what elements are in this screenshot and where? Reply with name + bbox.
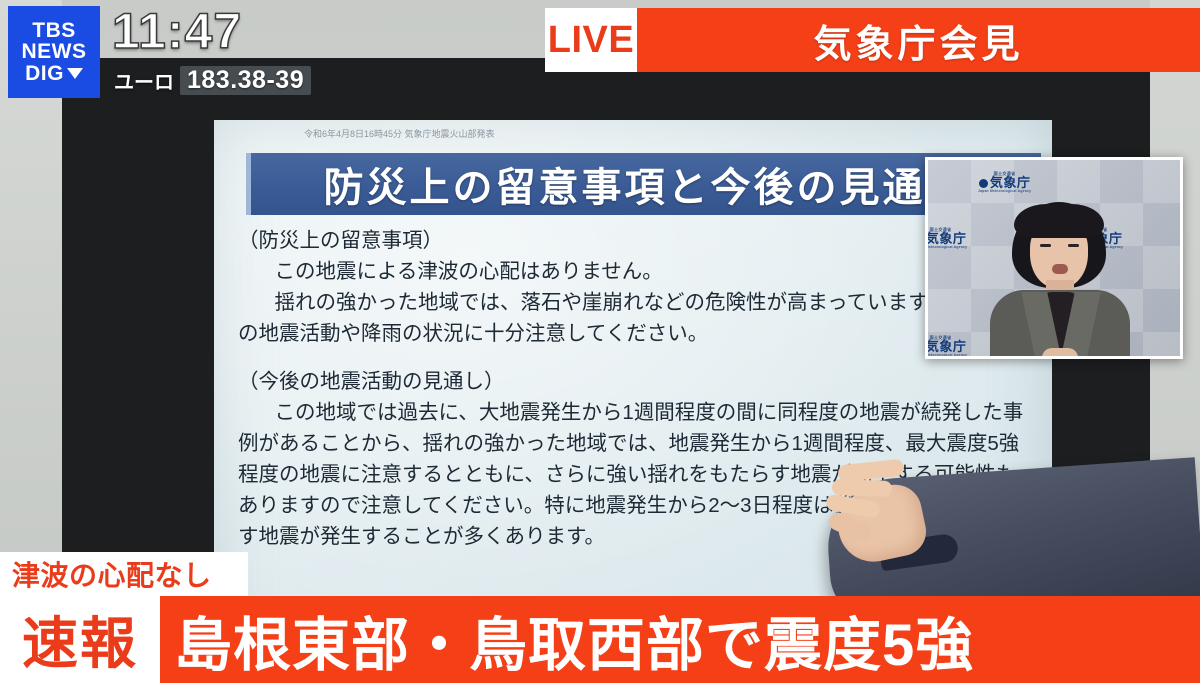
speaker-hands [1042, 348, 1078, 359]
jma-logo-main-text: 気象庁 [926, 339, 967, 354]
jma-logo-main: 気象庁 [978, 176, 1031, 190]
jma-logo: 国土交通省 気象庁 Japan Meteorological Agency [925, 336, 967, 357]
breaking-news-headline-text: 島根東部・鳥取西部で震度5強 [160, 598, 974, 682]
speaker-eye-right [1068, 244, 1079, 247]
section-line: の地震活動や降雨の状況に十分注意してください。 [238, 318, 1038, 349]
logo-line-news: NEWS [22, 41, 87, 62]
jma-logo-sub: Japan Meteorological Agency [925, 354, 967, 358]
sub-flash-text: 津波の心配なし [0, 554, 212, 594]
pip-press-conference: 国土交通省 気象庁 Japan Meteorological Agency 国土… [925, 157, 1183, 359]
section-line: この地域では過去に、大地震発生から1週間程度の間に同程度の地震が続発した事 [238, 397, 1038, 428]
topic-bar: 気象庁会見 [637, 8, 1200, 72]
pip-speaker [984, 202, 1134, 359]
jma-logo-top: 国土交通省 [978, 172, 1031, 176]
slide-title-bar: 防災上の留意事項と今後の見通し [246, 153, 1041, 215]
broadcast-screen: 令和6年4月8日16時45分 気象庁地震火山部発表 防災上の留意事項と今後の見通… [0, 0, 1200, 683]
section-line: この地震による津波の心配はありません。 [238, 256, 1038, 287]
presenter-hand [810, 460, 930, 570]
jma-logo-sub: Japan Meteorological Agency [978, 190, 1031, 194]
ticker-value: 183.38-39 [180, 66, 311, 95]
market-ticker: ユーロ 183.38-39 [114, 66, 311, 95]
jma-logo-sub: Japan Meteorological Agency [925, 246, 967, 250]
logo-line-tbs: TBS [32, 20, 76, 41]
jma-logo: 国土交通省 気象庁 Japan Meteorological Agency [978, 172, 1031, 193]
breaking-news-headline: 島根東部・鳥取西部で震度5強 [160, 596, 1200, 683]
jma-logo-main-text: 気象庁 [990, 175, 1031, 190]
down-arrow-icon [67, 68, 83, 79]
ticker-label: ユーロ [114, 66, 174, 95]
speaker-hair-front [1014, 204, 1104, 238]
live-badge: LIVE [545, 8, 637, 72]
jma-logo-top: 国土交通省 [925, 228, 967, 232]
logo-line-dig: DIG [25, 63, 64, 84]
sub-flash-banner: 津波の心配なし [0, 552, 248, 596]
jma-logo: 国土交通省 気象庁 Japan Meteorological Agency [925, 228, 967, 249]
jma-mark-icon [979, 179, 988, 188]
section-line: 例があることから、揺れの強かった地域では、地震発生から1週間程度、最大震度5強 [238, 428, 1038, 459]
section-heading: （防災上の留意事項） [238, 225, 1038, 256]
section-line: 揺れの強かった地域では、落石や崖崩れなどの危険性が高まっていますので、今後 [238, 287, 1038, 318]
breaking-news-label-text: 速報 [22, 599, 138, 680]
jma-logo-top: 国土交通省 [925, 336, 967, 340]
topic-bar-text: 気象庁会見 [813, 13, 1023, 68]
jma-logo-main: 気象庁 [925, 340, 967, 354]
on-screen-clock: 11:47 [112, 2, 242, 60]
speaker-mouth [1052, 264, 1068, 274]
jma-logo-main: 気象庁 [925, 232, 967, 246]
live-badge-text: LIVE [548, 19, 634, 62]
speaker-eye-left [1040, 244, 1051, 247]
section-heading: （今後の地震活動の見通し） [238, 366, 1038, 397]
slide-header-note: 令和6年4月8日16時45分 気象庁地震火山部発表 [304, 128, 864, 141]
section-spacer [238, 350, 1038, 366]
jma-logo-main-text: 気象庁 [926, 231, 967, 246]
tbs-news-dig-logo[interactable]: TBS NEWS DIG [8, 6, 100, 98]
presenter-finger [832, 479, 893, 497]
breaking-news-label: 速報 [0, 596, 160, 683]
slide-title: 防災上の留意事項と今後の見通し [324, 155, 969, 213]
